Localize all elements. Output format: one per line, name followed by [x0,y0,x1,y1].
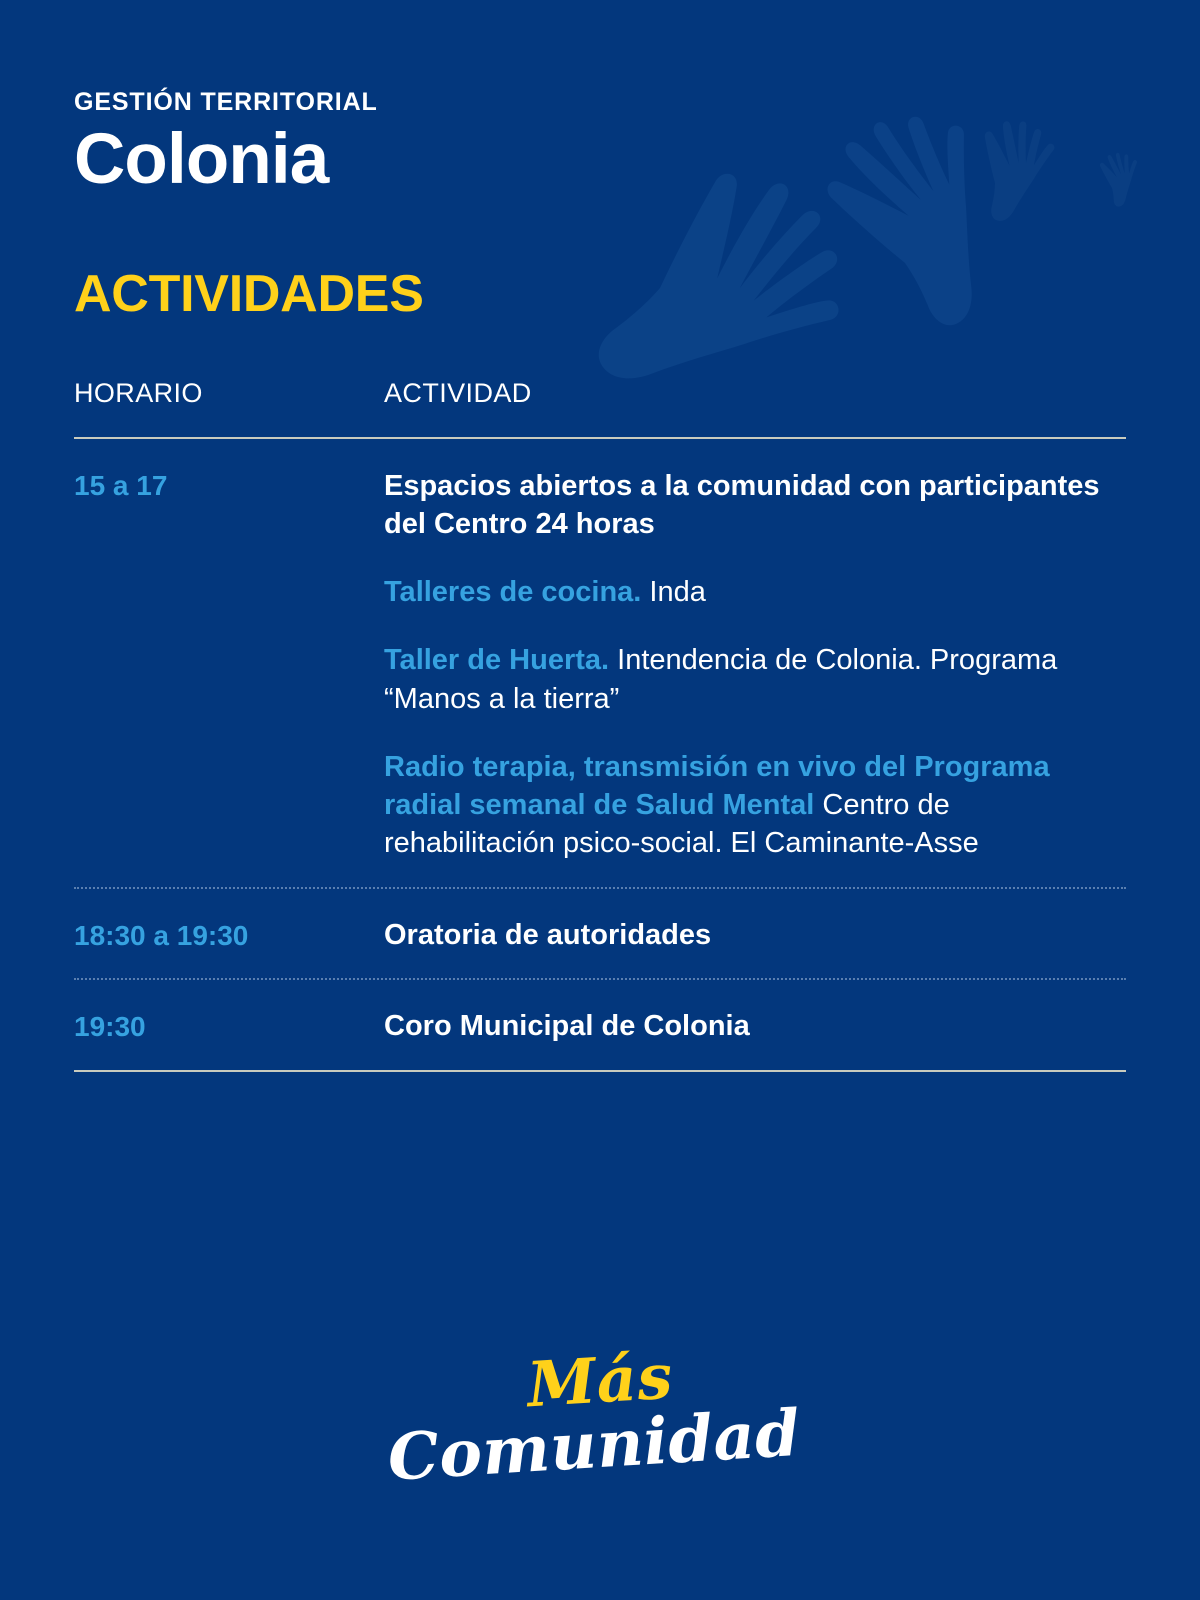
row-activity: Coro Municipal de Colonia [384,1008,1126,1046]
activity-item: Talleres de cocina. Inda [384,573,1126,611]
eyebrow-label: GESTIÓN TERRITORIAL [74,88,1126,117]
brand-logo-line-comunidad: Comunidad [0,1378,1195,1515]
table-row: 15 a 17 Espacios abiertos a la comunidad… [74,439,1126,887]
activity-headline: Oratoria de autoridades [384,917,1126,955]
column-header-horario: HORARIO [74,378,384,409]
activity-headline: Espacios abiertos a la comunidad con par… [384,467,1126,544]
activity-item: Taller de Huerta. Intendencia de Colonia… [384,641,1126,718]
activity-item-detail: Inda [641,576,706,608]
row-activity: Oratoria de autoridades [384,917,1126,955]
table-row: 19:30 Coro Municipal de Colonia [74,978,1126,1072]
activity-headline-text: Espacios abiertos a la comunidad con par… [384,470,1100,540]
poster-body: GESTIÓN TERRITORIAL Colonia ACTIVIDADES … [0,88,1200,1072]
section-title: ACTIVIDADES [74,264,1126,324]
table-row: 18:30 a 19:30 Oratoria de autoridades [74,887,1126,979]
row-time: 18:30 a 19:30 [74,917,384,955]
activity-item: Radio terapia, transmisión en vivo del P… [384,748,1126,863]
activity-item-title: Radio terapia, transmisión en vivo del P… [384,751,1050,821]
row-activity: Espacios abiertos a la comunidad con par… [384,467,1126,863]
brand-logo: Más Comunidad [0,1350,1200,1478]
page-title: Colonia [74,123,1126,198]
row-time: 15 a 17 [74,467,384,863]
column-header-actividad: ACTIVIDAD [384,378,1126,409]
table-header-row: HORARIO ACTIVIDAD [74,378,1126,439]
schedule-table: HORARIO ACTIVIDAD 15 a 17 Espacios abier… [74,378,1126,1073]
activity-item-title: Talleres de cocina. [384,576,641,608]
activity-item-title: Taller de Huerta. [384,644,609,676]
row-time: 19:30 [74,1008,384,1046]
brand-logo-line-mas: Más [0,1313,1200,1448]
activity-headline: Coro Municipal de Colonia [384,1008,1126,1046]
